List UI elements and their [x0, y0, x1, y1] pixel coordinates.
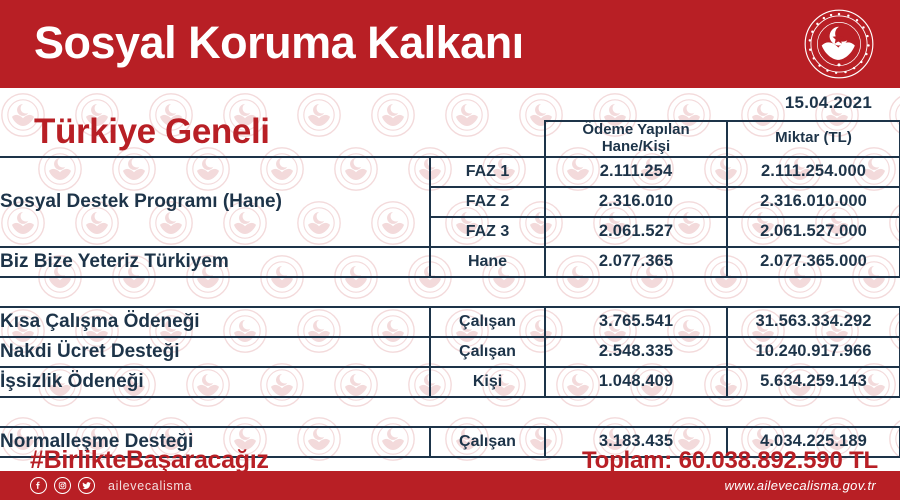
- social-links[interactable]: ailevecalisma: [30, 471, 192, 500]
- table-row: İşsizlik ÖdeneğiKişi1.048.4095.634.259.1…: [0, 367, 900, 397]
- table-row: Biz Bize Yeteriz TürkiyemHane2.077.3652.…: [0, 247, 900, 277]
- ministry-emblem-icon: [803, 8, 875, 80]
- row-label-biz-bize-yeteriz-turkiyem: Biz Bize Yeteriz Türkiyem: [0, 247, 430, 277]
- row-count: 2.548.335: [545, 337, 727, 367]
- row-count: 2.111.254: [545, 157, 727, 187]
- row-amount: 5.634.259.143: [727, 367, 900, 397]
- statistics-table: Ödeme YapılanHane/KişiMiktar (TL)Sosyal …: [0, 120, 900, 458]
- row-amount: 2.316.010.000: [727, 187, 900, 217]
- section-spacer-row: [0, 397, 900, 427]
- row-unit: FAZ 1: [430, 157, 545, 187]
- row-label-sosyal-destek-programi: Sosyal Destek Programı (Hane): [0, 157, 430, 247]
- row-label-issizlik-odenegi: İşsizlik Ödeneği: [0, 367, 430, 397]
- row-amount: 2.077.365.000: [727, 247, 900, 277]
- column-header-amount: Miktar (TL): [727, 121, 900, 157]
- row-label-nakdi-ucret-destegi: Nakdi Ücret Desteği: [0, 337, 430, 367]
- row-amount: 10.240.917.966: [727, 337, 900, 367]
- row-label-kisa-calisma-odenegi: Kısa Çalışma Ödeneği: [0, 307, 430, 337]
- row-amount: 2.111.254.000: [727, 157, 900, 187]
- table-row: Sosyal Destek Programı (Hane)FAZ 12.111.…: [0, 157, 900, 187]
- row-unit: Hane: [430, 247, 545, 277]
- row-unit: Çalışan: [430, 337, 545, 367]
- row-count: 3.765.541: [545, 307, 727, 337]
- row-unit: Kişi: [430, 367, 545, 397]
- header-spacer-unit: [430, 121, 545, 157]
- table-row: Nakdi Ücret DesteğiÇalışan2.548.33510.24…: [0, 337, 900, 367]
- statistics-table-container: Ödeme YapılanHane/KişiMiktar (TL)Sosyal …: [0, 120, 900, 458]
- twitter-icon[interactable]: [78, 477, 95, 494]
- row-count: 1.048.409: [545, 367, 727, 397]
- row-unit: Çalışan: [430, 307, 545, 337]
- facebook-icon[interactable]: [30, 477, 47, 494]
- row-unit: FAZ 2: [430, 187, 545, 217]
- infographic-page: Sosyal Koruma Kalkanı: [0, 0, 900, 500]
- row-count: 2.061.527: [545, 217, 727, 247]
- website-url[interactable]: www.ailevecalisma.gov.tr: [725, 471, 876, 500]
- header-banner: Sosyal Koruma Kalkanı: [0, 0, 900, 88]
- row-amount: 2.061.527.000: [727, 217, 900, 247]
- footer-bar: ailevecalisma www.ailevecalisma.gov.tr: [0, 471, 900, 500]
- column-header-count: Ödeme YapılanHane/Kişi: [545, 121, 727, 157]
- row-unit: Çalışan: [430, 427, 545, 457]
- table-header-row: Ödeme YapılanHane/KişiMiktar (TL): [0, 121, 900, 157]
- report-date: 15.04.2021: [785, 93, 872, 113]
- instagram-icon[interactable]: [54, 477, 71, 494]
- row-count: 2.077.365: [545, 247, 727, 277]
- header-spacer: [0, 121, 430, 157]
- page-title: Sosyal Koruma Kalkanı: [34, 17, 524, 69]
- row-amount: 31.563.334.292: [727, 307, 900, 337]
- row-unit: FAZ 3: [430, 217, 545, 247]
- table-row: Kısa Çalışma ÖdeneğiÇalışan3.765.54131.5…: [0, 307, 900, 337]
- social-handle: ailevecalisma: [108, 479, 192, 493]
- row-count: 2.316.010: [545, 187, 727, 217]
- section-spacer-row: [0, 277, 900, 307]
